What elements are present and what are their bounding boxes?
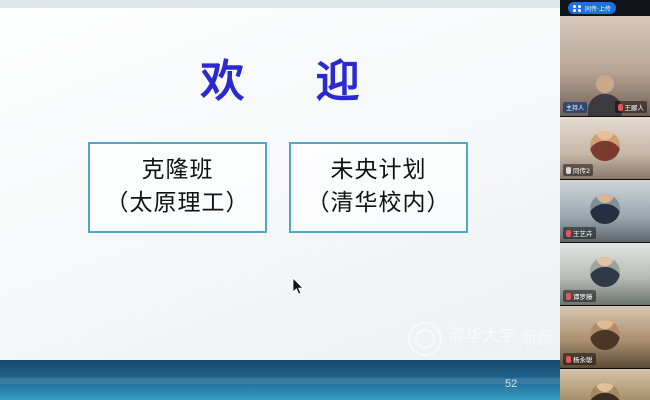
participant-name-3: 谭罗藤 <box>563 290 596 302</box>
watermark-university-cn: 清华大学 <box>448 328 516 345</box>
screen-recording-frame: 欢 迎 克隆班 （太原理工） 未央计划 （清华校内） 清华大学 Tsinghua… <box>0 0 650 400</box>
meeting-app-label: 同传·上传 <box>585 4 611 13</box>
video-subject <box>590 194 620 224</box>
video-subject <box>590 320 620 350</box>
slide-top-band <box>0 0 560 8</box>
video-subject <box>590 257 620 287</box>
participant-tile-2[interactable]: 王艺卉 <box>560 180 650 243</box>
broadcaster-watermark: 清华大学 Tsinghua University 新闻 NEWS <box>408 322 552 356</box>
presentation-slide: 欢 迎 克隆班 （太原理工） 未央计划 （清华校内） 清华大学 Tsinghua… <box>0 0 560 400</box>
slide-box-right-line-2: （清华校内） <box>295 187 462 220</box>
participant-name-2-label: 王艺卉 <box>573 228 593 238</box>
participant-tile-5[interactable]: 陈小雪 <box>560 369 650 400</box>
participant-name-4: 杨永聪 <box>563 353 596 365</box>
slide-box-left-line-2: （太原理工） <box>94 187 261 220</box>
video-subject <box>590 131 620 161</box>
slide-box-group: 克隆班 （太原理工） 未央计划 （清华校内） <box>88 142 468 233</box>
participant-name-2: 王艺卉 <box>563 227 596 239</box>
watermark-news-en: NEWS <box>522 347 552 353</box>
slide-page-number: 52 <box>505 378 517 390</box>
slide-box-left: 克隆班 （太原理工） <box>88 142 267 233</box>
mouse-cursor-icon <box>293 278 305 296</box>
slide-title: 欢 迎 <box>0 45 560 109</box>
slide-box-left-line-1: 克隆班 <box>94 154 261 187</box>
participant-host-badge: 主持人 <box>563 102 587 113</box>
slide-box-right: 未央计划 （清华校内） <box>289 142 468 233</box>
mic-icon <box>566 167 571 174</box>
mic-muted-icon <box>566 356 571 363</box>
participant-name-4-label: 杨永聪 <box>573 354 593 364</box>
rail-header: 同传·上传 <box>560 0 650 16</box>
university-seal-icon <box>408 322 442 356</box>
mic-muted-icon <box>566 230 571 237</box>
participant-name-1: 同传2 <box>563 164 593 176</box>
participant-tile-3[interactable]: 谭罗藤 <box>560 243 650 306</box>
participant-name-3-label: 谭罗藤 <box>573 291 593 301</box>
watermark-university-en: Tsinghua University <box>448 345 516 351</box>
mic-muted-icon <box>618 104 623 111</box>
participant-name-0-label: 王郦人 <box>625 102 645 112</box>
slide-footer-band <box>0 360 560 400</box>
participant-name-1-label: 同传2 <box>573 165 590 175</box>
video-subject <box>590 383 620 400</box>
participant-rail: 同传·上传 主持人 王郦人 <box>560 0 650 400</box>
participant-tile-main[interactable]: 主持人 王郦人 <box>560 16 650 117</box>
app-logo-icon <box>573 5 582 12</box>
participant-name-0: 王郦人 <box>615 101 648 113</box>
meeting-app-badge[interactable]: 同传·上传 <box>568 2 616 14</box>
participant-tile-1[interactable]: 同传2 <box>560 117 650 180</box>
slide-box-right-line-1: 未央计划 <box>295 154 462 187</box>
watermark-news-cn: 新闻 <box>522 326 552 347</box>
participant-tile-4[interactable]: 杨永聪 <box>560 306 650 369</box>
mic-muted-icon <box>566 293 571 300</box>
